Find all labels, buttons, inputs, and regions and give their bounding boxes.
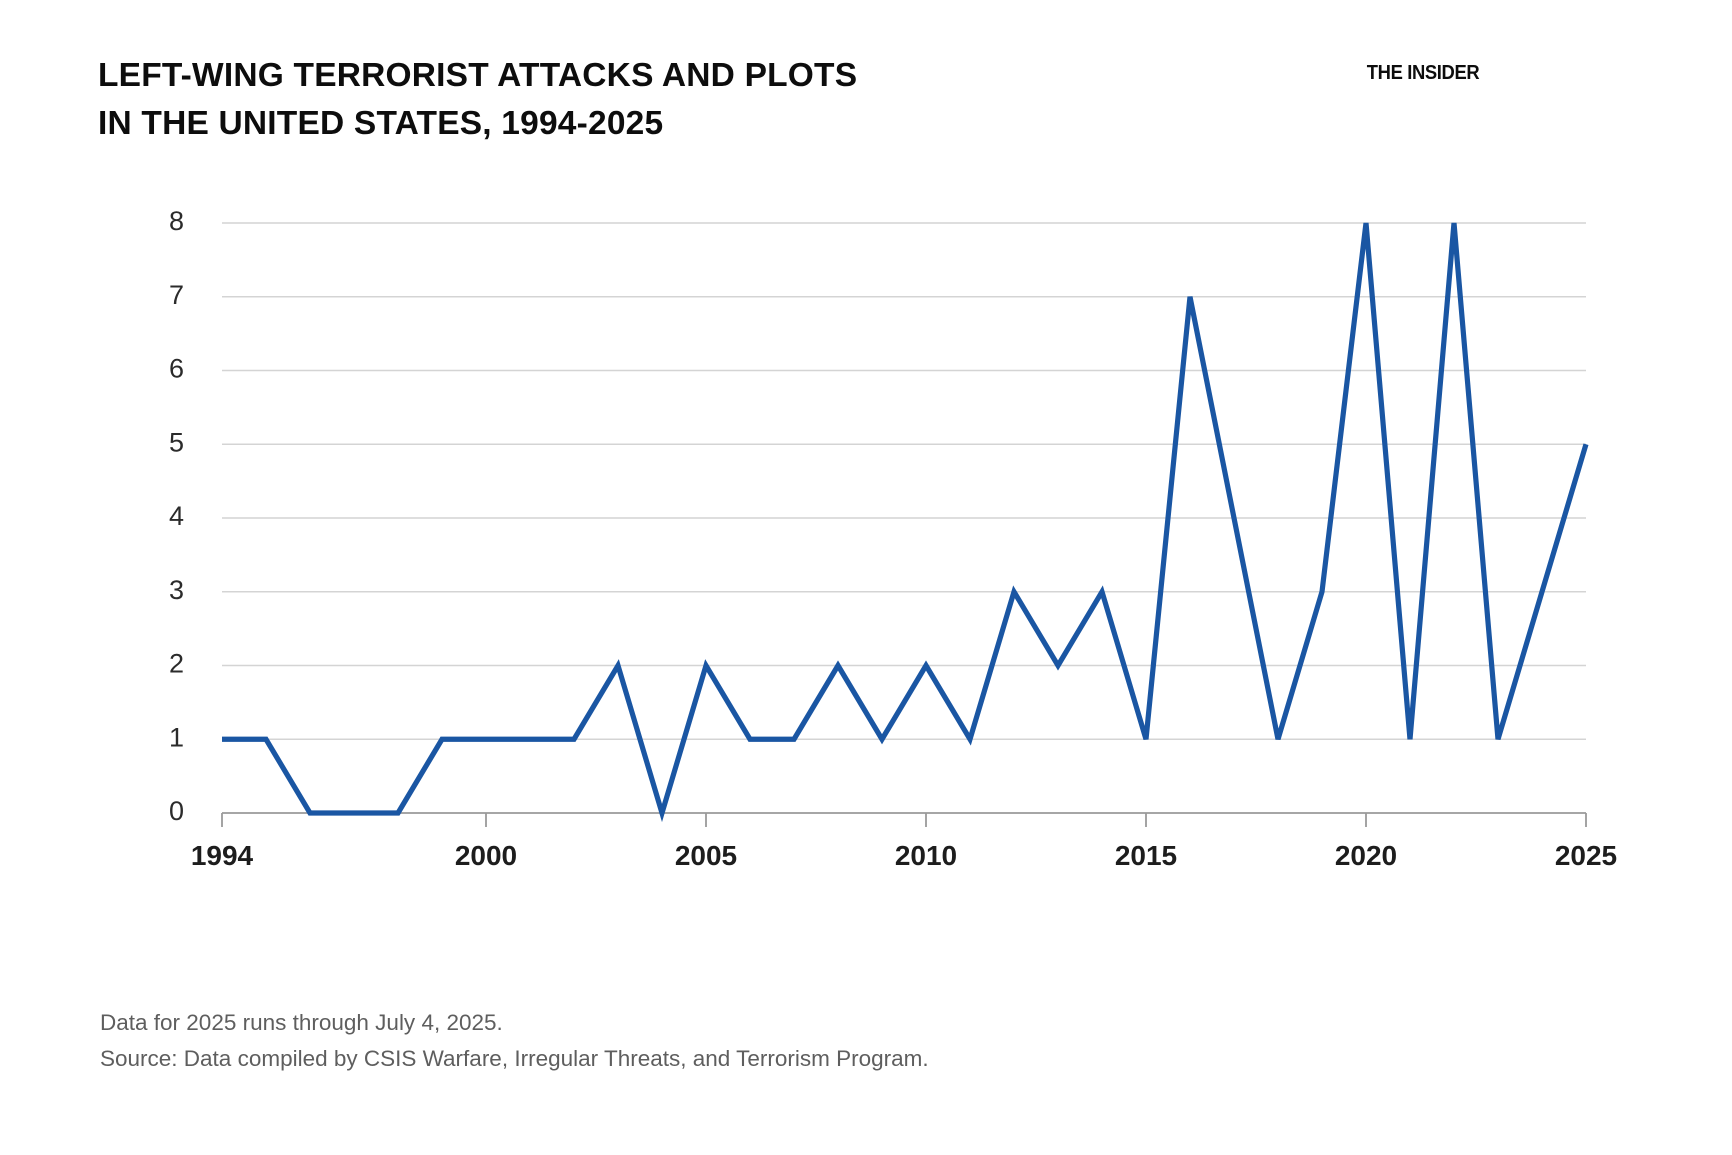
y-tick-label: 8 [169,206,184,236]
footnotes: Data for 2025 runs through July 4, 2025.… [100,1005,1300,1078]
gridlines [222,223,1586,739]
y-tick-label: 0 [169,796,184,826]
x-tick-label: 2000 [455,840,517,871]
y-tick-label: 1 [169,722,184,752]
page-title: LEFT-WING TERRORIST ATTACKS AND PLOTS IN… [98,52,857,147]
publisher-logo: THE INSIDER [1367,62,1479,85]
x-axis-tick-labels: 1994200020052010201520202025 [191,840,1617,871]
line-chart: 012345678 1994200020052010201520202025 [0,185,1732,885]
footnote-data-range: Data for 2025 runs through July 4, 2025. [100,1005,1300,1041]
x-tick-label: 1994 [191,840,254,871]
x-tick-label: 2025 [1555,840,1617,871]
chart-page: LEFT-WING TERRORIST ATTACKS AND PLOTS IN… [0,0,1732,1155]
x-tick-label: 2020 [1335,840,1397,871]
chart-canvas: 012345678 1994200020052010201520202025 [0,185,1732,885]
y-tick-label: 5 [169,427,184,457]
y-tick-label: 7 [169,280,184,310]
x-axis [222,813,1586,827]
y-tick-label: 6 [169,354,184,384]
footnote-source: Source: Data compiled by CSIS Warfare, I… [100,1041,1300,1077]
y-tick-label: 4 [169,501,184,531]
y-tick-label: 3 [169,575,184,605]
chart-header: LEFT-WING TERRORIST ATTACKS AND PLOTS IN… [98,52,1692,147]
y-tick-label: 2 [169,649,184,679]
x-tick-label: 2015 [1115,840,1177,871]
x-tick-label: 2005 [675,840,737,871]
x-tick-label: 2010 [895,840,957,871]
y-axis-tick-labels: 012345678 [169,206,184,826]
